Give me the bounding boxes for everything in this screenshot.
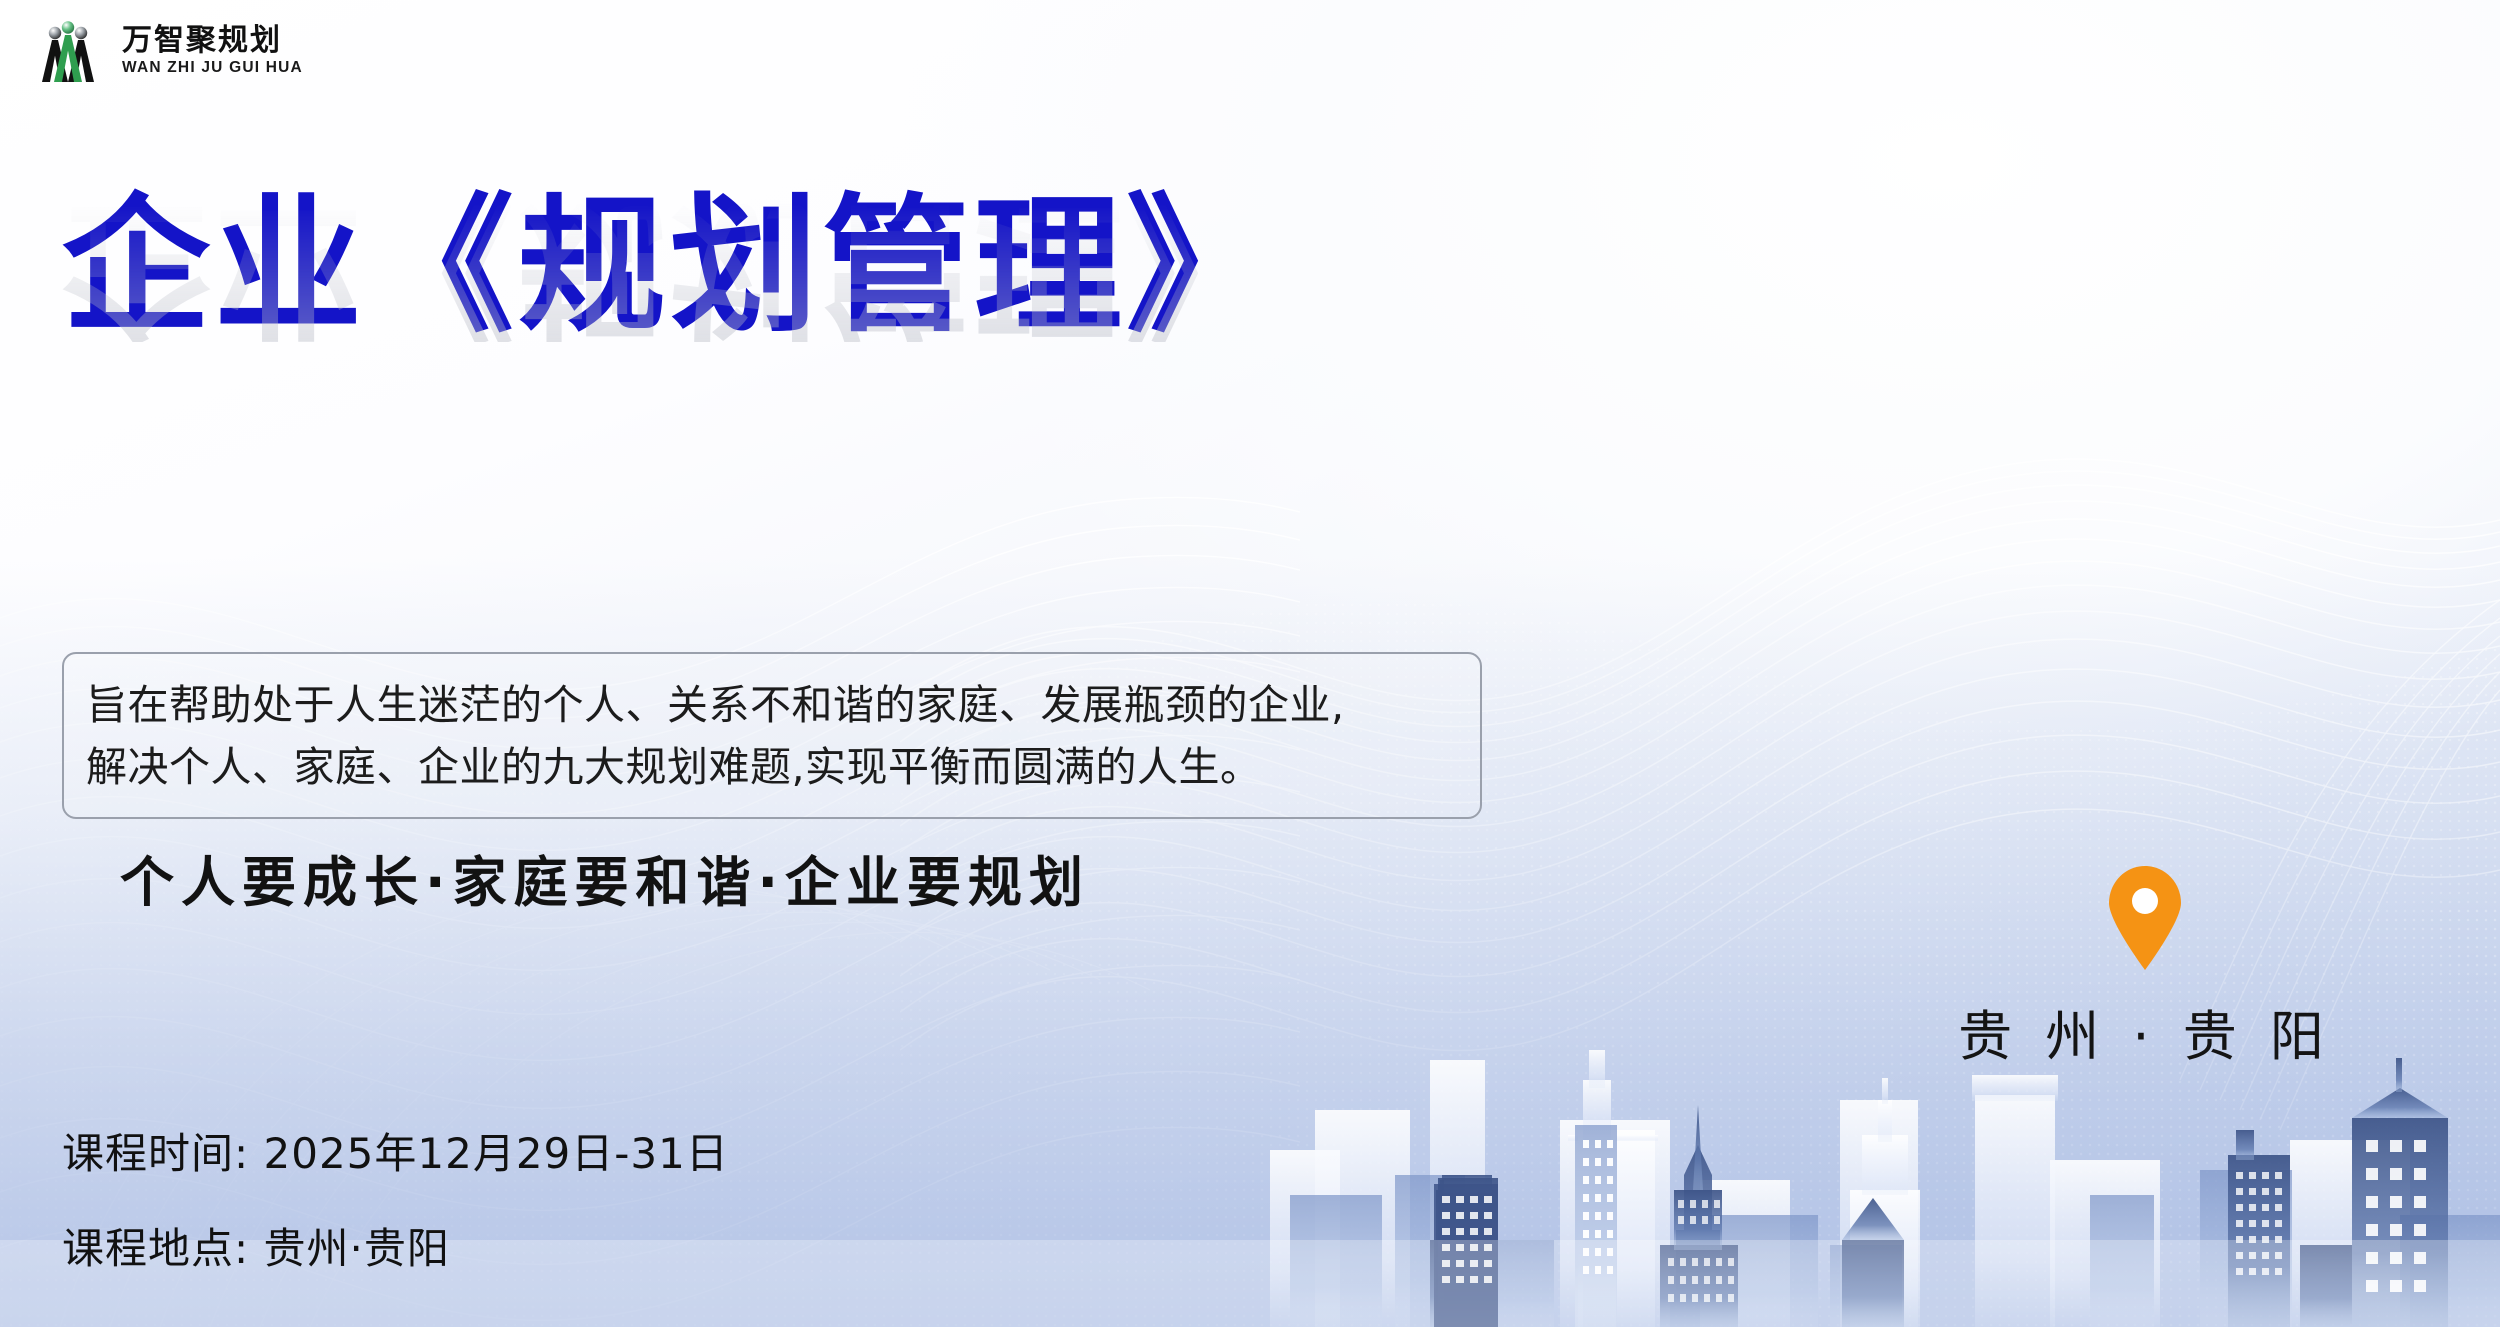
hero-title-block: 企业《规划管理》 企业《规划管理》 [62, 192, 1278, 490]
page-title: 企业《规划管理》 [62, 192, 1278, 340]
poster-canvas: 万智聚规划 WAN ZHI JU GUI HUA 企业《规划管理》 企业《规划管… [0, 0, 2500, 1327]
location-city-label: 贵 州 · 贵 阳 [1958, 992, 2332, 1071]
description-box: 旨在帮助处于人生迷茫的个人、关系不和谐的家庭、发展瓶颈的企业, 解决个人、家庭、… [62, 652, 1482, 819]
brand-logo-text: 万智聚规划 WAN ZHI JU GUI HUA [122, 25, 303, 78]
three-people-logo-icon [30, 18, 106, 84]
map-pin-icon [2107, 866, 2183, 970]
brand-logo[interactable]: 万智聚规划 WAN ZHI JU GUI HUA [30, 18, 303, 84]
location-group: 贵 州 · 贵 阳 [1955, 866, 2335, 1071]
brand-name-cn: 万智聚规划 [122, 25, 303, 57]
course-meta: 课程时间: 2025年12月29日-31日 课程地点: 贵州·贵阳 [62, 1120, 729, 1276]
course-place-row: 课程地点: 贵州·贵阳 [62, 1215, 729, 1276]
brand-name-en: WAN ZHI JU GUI HUA [122, 59, 303, 78]
description-line-2: 解决个人、家庭、企业的九大规划难题,实现平衡而圆满的人生。 [86, 736, 1458, 798]
slogan-text: 个人要成长·家庭要和谐·企业要规划 [120, 838, 1090, 917]
description-line-1: 旨在帮助处于人生迷茫的个人、关系不和谐的家庭、发展瓶颈的企业, [86, 674, 1458, 736]
course-time-row: 课程时间: 2025年12月29日-31日 [62, 1120, 729, 1181]
